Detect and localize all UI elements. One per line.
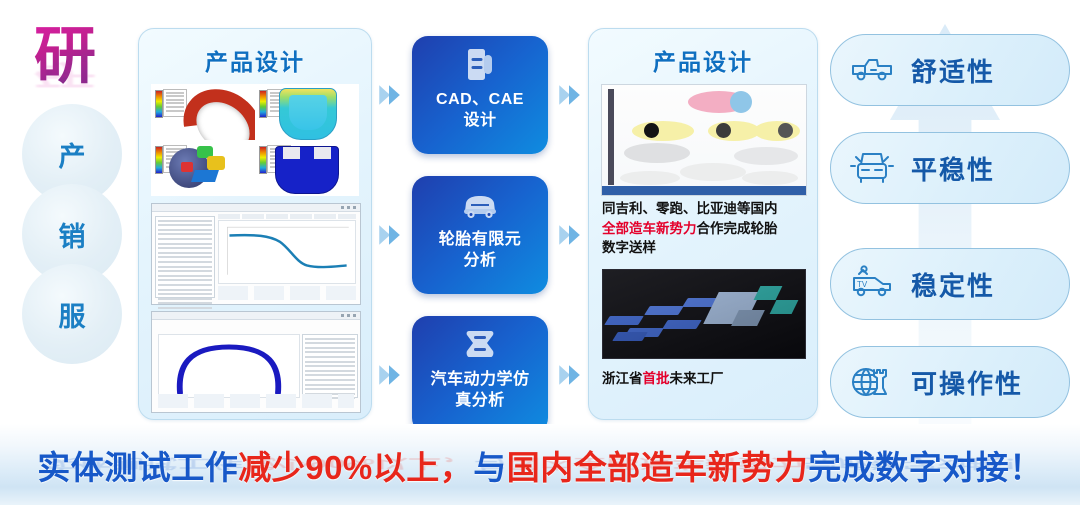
- bottom-banner: 实体测试工作减少90%以上，与国内全部造车新势力完成数字对接！: [0, 424, 1080, 505]
- banner-part2: 减少90%以上，: [238, 449, 473, 486]
- venn-label-service: 服: [59, 295, 86, 334]
- card-label-line1: CAD、CAE: [436, 90, 524, 111]
- tv-van-icon: TV: [849, 264, 895, 304]
- result-line2-rest: 合作完成轮胎: [697, 221, 778, 236]
- result-line3: 数字送样: [602, 240, 656, 255]
- banner-text: 实体测试工作减少90%以上，与国内全部造车新势力完成数字对接！: [37, 441, 1043, 489]
- cae-image-grid: [151, 84, 359, 196]
- cae-image-tire-blue: [255, 140, 359, 196]
- pickup-truck-icon: [849, 50, 895, 90]
- banner-part4: 国内全部造车新势力: [507, 449, 809, 486]
- card-label-line2: 真分析: [430, 391, 529, 412]
- attribute-label-steadiness: 稳定性: [911, 266, 995, 303]
- cae-image-tire-section: [255, 84, 359, 140]
- software-window-tire-profile: [151, 311, 361, 413]
- process-card-vehicle-dynamics[interactable]: 汽车动力学仿 真分析: [412, 316, 548, 434]
- card-label-line2: 分析: [439, 251, 522, 272]
- factory-caption-prefix: 浙江省: [602, 371, 643, 386]
- panel-result-title: 产品设计: [589, 43, 817, 77]
- attribute-label-stability: 平稳性: [911, 150, 995, 187]
- result-description: 同吉利、零跑、比亚迪等国内 全部造车新势力合作完成轮胎 数字送样: [602, 199, 807, 258]
- tire-profile-plot: [159, 335, 299, 397]
- chevron-right-icon: [556, 222, 582, 248]
- factory-caption-highlight: 首批: [643, 371, 670, 386]
- attribute-pill-comfort[interactable]: 舒适性: [830, 34, 1070, 106]
- chevron-right-icon: [376, 82, 402, 108]
- car-icon: [459, 187, 501, 225]
- attribute-pill-steadiness[interactable]: TV 稳定性: [830, 248, 1070, 320]
- future-factory-photo: [602, 269, 806, 359]
- tire-model-map-infographic: [601, 84, 807, 196]
- vehicle-dynamics-icon: [459, 327, 501, 365]
- attribute-pill-operability[interactable]: 可操作性: [830, 346, 1070, 418]
- venn-circle-service: 服: [22, 264, 122, 364]
- svg-text:TV: TV: [857, 280, 868, 289]
- panel-design-title: 产品设计: [139, 43, 371, 77]
- chevron-right-icon: [376, 222, 402, 248]
- venn-label-produce: 产: [59, 135, 86, 174]
- panel-product-design-results: 产品设计 同吉利、零跑、比亚迪等国内 全部造车新势力合作完成轮胎 数字送样: [588, 28, 818, 420]
- curve-plot: [219, 221, 355, 283]
- globe-chess-icon: [849, 362, 895, 402]
- venn-label-sales: 销: [59, 215, 86, 254]
- cae-image-wheel-assembly: [151, 140, 255, 196]
- banner-part1: 实体测试工作: [37, 449, 238, 486]
- result-line1: 同吉利、零跑、比亚迪等国内: [602, 201, 778, 216]
- card-label-line2: 设计: [436, 111, 524, 132]
- brand-character-reflection: 研: [34, 60, 96, 88]
- card-label-line1: 汽车动力学仿: [430, 370, 529, 391]
- document-icon: [459, 47, 501, 85]
- chevron-right-icon: [376, 362, 402, 388]
- banner-part3: 与: [473, 449, 507, 486]
- banner-part5: 完成数字对接！: [808, 449, 1043, 486]
- process-card-tire-fem[interactable]: 轮胎有限元 分析: [412, 176, 548, 294]
- factory-caption: 浙江省首批未来工厂: [602, 367, 807, 387]
- left-brand-column: 研 研 产 × 销 × 服: [0, 0, 140, 430]
- card-label-line1: 轮胎有限元: [439, 230, 522, 251]
- attribute-pill-stability[interactable]: 平稳性: [830, 132, 1070, 204]
- chevron-right-icon: [556, 82, 582, 108]
- chevron-right-icon: [556, 362, 582, 388]
- software-window-curve-analysis: [151, 203, 361, 305]
- attribute-label-comfort: 舒适性: [911, 52, 995, 89]
- attribute-label-operability: 可操作性: [911, 364, 1023, 401]
- car-front-icon: [849, 148, 895, 188]
- cae-image-red-toroid: [151, 84, 255, 140]
- panel-product-design: 产品设计: [138, 28, 372, 420]
- process-card-cad-cae[interactable]: CAD、CAE 设计: [412, 36, 548, 154]
- result-highlight: 全部造车新势力: [602, 221, 697, 236]
- factory-caption-suffix: 未来工厂: [670, 371, 724, 386]
